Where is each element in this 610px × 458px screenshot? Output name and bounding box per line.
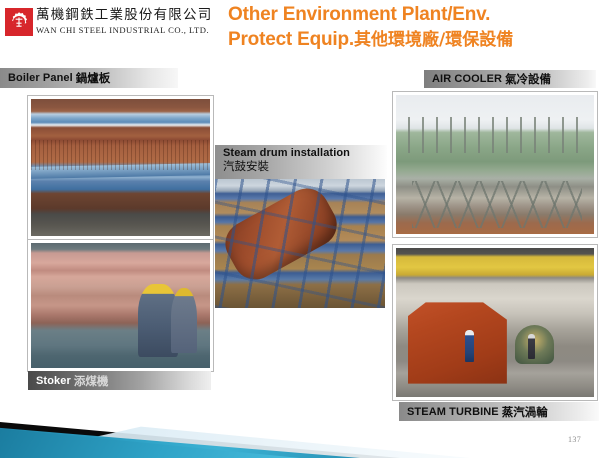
caption-steam-turbine: STEAM TURBINE 蒸汽渦輪 xyxy=(399,402,599,421)
caption-air-cooler-en: AIR COOLER xyxy=(432,73,502,85)
worker-figure xyxy=(465,330,474,362)
caption-boiler-panel-cn: 鍋爐板 xyxy=(76,70,111,86)
company-name-en: WAN CHI STEEL INDUSTRIAL CO., LTD. xyxy=(36,24,226,36)
page-title-line2-en: Protect Equip. xyxy=(228,29,354,50)
caption-air-cooler: AIR COOLER 氣冷設備 xyxy=(424,70,596,88)
caption-stoker-en: Stoker xyxy=(36,375,71,387)
stoker-photo-image xyxy=(31,243,210,368)
caption-steam-turbine-en: STEAM TURBINE xyxy=(407,406,499,418)
boiler-panel-photo-image xyxy=(31,99,210,236)
caption-steam-drum: Steam drum installation 汽鼓安裝 xyxy=(215,145,387,179)
air-cooler-photo-image xyxy=(396,95,594,234)
page-title-line1: Other Environment Plant/Env. xyxy=(228,2,610,27)
stoker-photo xyxy=(28,240,213,371)
company-name-cn: 萬機鋼鉄工業股份有限公司 xyxy=(36,7,226,23)
page-number: 137 xyxy=(568,435,581,444)
steam-turbine-photo xyxy=(393,245,597,400)
caption-boiler-panel-en: Boiler Panel xyxy=(8,72,73,84)
caption-stoker-cn: 添煤機 xyxy=(74,373,109,389)
page-title-line2-cn: 其他環境廠/環保設備 xyxy=(354,30,513,50)
caption-air-cooler-cn: 氣冷設備 xyxy=(505,71,551,87)
steam-drum-photo xyxy=(215,178,385,308)
steam-drum-photo-image xyxy=(215,178,385,308)
caption-steam-drum-cn: 汽鼓安裝 xyxy=(223,160,381,173)
air-cooler-photo xyxy=(393,92,597,237)
caption-stoker: Stoker 添煤機 xyxy=(28,371,211,390)
worker-figure xyxy=(528,334,535,359)
slide-header: 萬機鋼鉄工業股份有限公司 WAN CHI STEEL INDUSTRIAL CO… xyxy=(0,0,610,62)
caption-steam-turbine-cn: 蒸汽渦輪 xyxy=(502,404,548,420)
company-gear-logo-icon xyxy=(5,8,33,36)
steam-turbine-photo-image xyxy=(396,248,594,397)
page-title: Other Environment Plant/Env. Protect Equ… xyxy=(228,2,610,53)
boiler-panel-photo xyxy=(28,96,213,239)
company-identity: 萬機鋼鉄工業股份有限公司 WAN CHI STEEL INDUSTRIAL CO… xyxy=(36,7,226,36)
caption-boiler-panel: Boiler Panel 鍋爐板 xyxy=(0,68,178,88)
